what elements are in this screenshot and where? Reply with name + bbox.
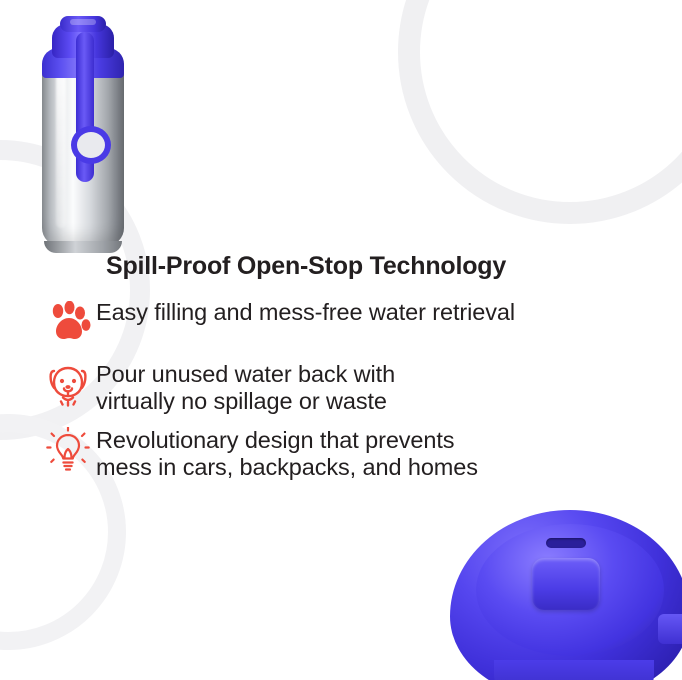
product-image-bottle xyxy=(30,8,140,253)
lid-push-button xyxy=(532,558,600,610)
dog-face-icon xyxy=(40,358,96,412)
feature-line: virtually no spillage or waste xyxy=(96,388,395,415)
product-feature-graphic: Spill-Proof Open-Stop Technology Easy fi… xyxy=(0,0,682,680)
background-arc-top-right xyxy=(398,0,682,224)
lid-collar-ring xyxy=(494,660,654,680)
bottle-strap-ring xyxy=(71,126,111,164)
lid-release-tab xyxy=(658,614,682,644)
feature-text: Easy filling and mess-free water retriev… xyxy=(96,296,515,326)
headline: Spill-Proof Open-Stop Technology xyxy=(106,252,506,281)
feature-item: Pour unused water back with virtually no… xyxy=(40,358,670,416)
feature-text: Pour unused water back with virtually no… xyxy=(96,358,395,416)
lid-vent-slot xyxy=(546,538,586,548)
feature-line: mess in cars, backpacks, and homes xyxy=(96,454,478,481)
bottle-cap-notch xyxy=(70,19,96,25)
paw-print-icon xyxy=(40,296,96,350)
feature-line: Easy filling and mess-free water retriev… xyxy=(96,299,515,326)
feature-text: Revolutionary design that prevents mess … xyxy=(96,424,478,482)
bottle-highlight xyxy=(56,68,66,228)
feature-line: Revolutionary design that prevents xyxy=(96,427,478,454)
feature-item: Easy filling and mess-free water retriev… xyxy=(40,296,670,350)
feature-line: Pour unused water back with xyxy=(96,361,395,388)
product-image-lid xyxy=(450,510,682,680)
feature-item: Revolutionary design that prevents mess … xyxy=(40,424,670,482)
lightbulb-idea-icon xyxy=(40,424,96,478)
feature-list: Easy filling and mess-free water retriev… xyxy=(40,296,670,489)
